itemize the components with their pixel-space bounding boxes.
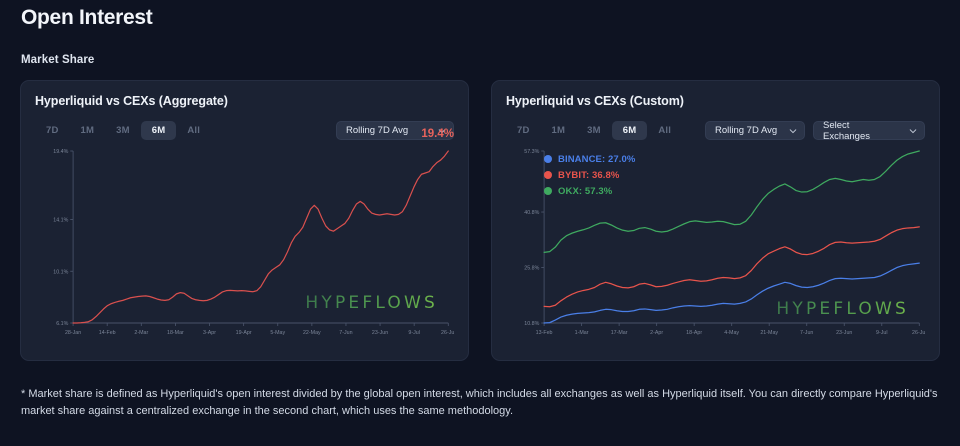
- svg-text:23-Jun: 23-Jun: [836, 330, 852, 336]
- svg-text:7-Jun: 7-Jun: [339, 330, 352, 336]
- svg-text:10.8%: 10.8%: [524, 321, 539, 327]
- chart-controls-custom: 7D 1M 3M 6M All Rolling 7D Avg Select Ex…: [506, 121, 925, 140]
- footnote: * Market share is defined as Hyperliquid…: [21, 386, 939, 420]
- svg-text:40.8%: 40.8%: [524, 210, 539, 216]
- legend-label-bybit: BYBIT: 36.8%: [558, 170, 619, 181]
- legend-dot-bybit: [544, 171, 552, 179]
- page-title: Open Interest: [21, 6, 152, 30]
- range-btn-7d[interactable]: 7D: [35, 121, 70, 140]
- svg-text:4-May: 4-May: [724, 330, 739, 336]
- svg-text:6.1%: 6.1%: [56, 321, 68, 327]
- range-btn-3m-custom[interactable]: 3M: [576, 121, 612, 140]
- range-selector-custom: 7D 1M 3M 6M All: [506, 121, 682, 140]
- watermark-logo: HYPEFLOWS: [305, 293, 438, 313]
- svg-text:19.4%: 19.4%: [53, 149, 68, 155]
- legend-label-okx: OKX: 57.3%: [558, 186, 612, 197]
- svg-text:17-Mar: 17-Mar: [611, 330, 628, 336]
- chart-title-custom: Hyperliquid vs CEXs (Custom): [506, 94, 925, 108]
- section-title: Market Share: [21, 54, 94, 66]
- range-selector-aggregate: 7D 1M 3M 6M All: [35, 121, 211, 140]
- svg-text:25.8%: 25.8%: [524, 265, 539, 271]
- svg-text:18-Apr: 18-Apr: [686, 330, 702, 336]
- plot-custom: 57.3%40.8%25.8%10.8%13-Feb1-Mar17-Mar2-A…: [506, 145, 925, 341]
- svg-text:10.1%: 10.1%: [53, 269, 68, 275]
- svg-text:7-Jun: 7-Jun: [800, 330, 813, 336]
- range-btn-6m[interactable]: 6M: [141, 121, 177, 140]
- svg-text:13-Feb: 13-Feb: [536, 330, 553, 336]
- exchange-select-value: Select Exchanges: [823, 120, 899, 142]
- chevron-down-icon: [909, 127, 917, 135]
- svg-text:9-Jul: 9-Jul: [408, 330, 420, 336]
- chevron-down-icon: [789, 127, 797, 135]
- exchange-select[interactable]: Select Exchanges: [813, 121, 925, 140]
- range-btn-6m-custom[interactable]: 6M: [612, 121, 648, 140]
- svg-text:2-Apr: 2-Apr: [650, 330, 663, 336]
- legend-item-okx: OKX: 57.3%: [544, 183, 635, 199]
- svg-text:2-Mar: 2-Mar: [134, 330, 148, 336]
- chart-title-aggregate: Hyperliquid vs CEXs (Aggregate): [35, 94, 454, 108]
- watermark-logo-custom: HYPEFLOWS: [776, 299, 909, 319]
- legend-item-binance: BINANCE: 27.0%: [544, 151, 635, 167]
- svg-text:19-Apr: 19-Apr: [236, 330, 252, 336]
- svg-text:5-May: 5-May: [270, 330, 285, 336]
- legend-dot-okx: [544, 187, 552, 195]
- chart-card-custom: Hyperliquid vs CEXs (Custom) 7D 1M 3M 6M…: [491, 80, 940, 361]
- range-btn-all-custom[interactable]: All: [647, 121, 682, 140]
- rolling-average-select-custom-value: Rolling 7D Avg: [715, 125, 777, 136]
- svg-text:21-May: 21-May: [760, 330, 778, 336]
- svg-text:9-Jul: 9-Jul: [876, 330, 888, 336]
- svg-text:14.1%: 14.1%: [53, 217, 68, 223]
- range-btn-1m-custom[interactable]: 1M: [541, 121, 577, 140]
- chart-card-aggregate: Hyperliquid vs CEXs (Aggregate) 7D 1M 3M…: [20, 80, 469, 361]
- svg-text:22-May: 22-May: [303, 330, 321, 336]
- range-btn-all[interactable]: All: [176, 121, 211, 140]
- svg-text:14-Feb: 14-Feb: [99, 330, 116, 336]
- svg-text:18-Mar: 18-Mar: [167, 330, 184, 336]
- current-value-aggregate: 19.4%: [421, 128, 454, 140]
- legend-label-binance: BINANCE: 27.0%: [558, 154, 635, 165]
- charts-container: Hyperliquid vs CEXs (Aggregate) 7D 1M 3M…: [20, 80, 940, 361]
- chart-controls-aggregate: 7D 1M 3M 6M All Rolling 7D Avg: [35, 121, 454, 140]
- range-btn-1m[interactable]: 1M: [70, 121, 106, 140]
- page-root: Open Interest Market Share Hyperliquid v…: [0, 0, 960, 446]
- rolling-average-select-custom[interactable]: Rolling 7D Avg: [705, 121, 805, 140]
- legend-item-bybit: BYBIT: 36.8%: [544, 167, 635, 183]
- svg-text:23-Jun: 23-Jun: [372, 330, 388, 336]
- svg-text:1-Mar: 1-Mar: [575, 330, 589, 336]
- svg-text:26-Jul: 26-Jul: [441, 330, 454, 336]
- range-btn-3m[interactable]: 3M: [105, 121, 141, 140]
- svg-text:26-Jul: 26-Jul: [912, 330, 925, 336]
- legend-dot-binance: [544, 155, 552, 163]
- range-btn-7d-custom[interactable]: 7D: [506, 121, 541, 140]
- rolling-average-select-value: Rolling 7D Avg: [346, 125, 408, 136]
- chart-legend: BINANCE: 27.0% BYBIT: 36.8% OKX: 57.3%: [544, 151, 635, 199]
- svg-text:28-Jan: 28-Jan: [65, 330, 81, 336]
- svg-text:57.3%: 57.3%: [524, 149, 539, 155]
- svg-text:3-Apr: 3-Apr: [203, 330, 216, 336]
- plot-aggregate: 19.4%14.1%10.1%6.1%28-Jan14-Feb2-Mar18-M…: [35, 145, 454, 341]
